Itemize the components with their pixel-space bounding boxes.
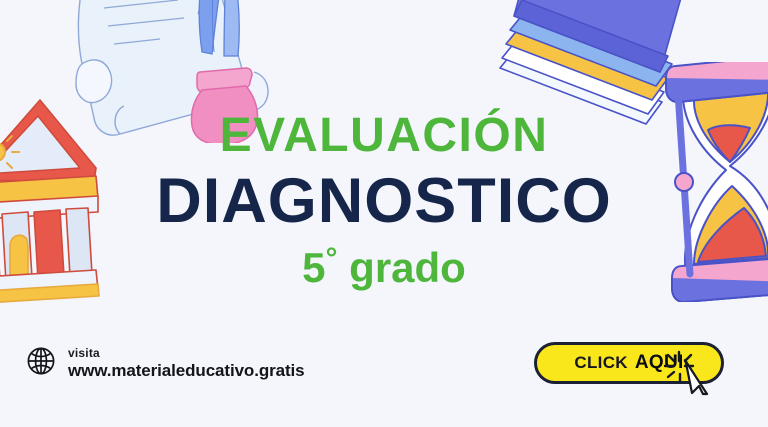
- cta-click-label: CLICK: [574, 353, 627, 373]
- globe-icon: [26, 346, 56, 381]
- mouse-cursor-click-icon: [659, 346, 717, 403]
- headline-line-evaluacion: EVALUACIÓN: [0, 112, 768, 160]
- grade-number: 5: [302, 244, 325, 291]
- promo-banner: EVALUACIÓN DIAGNOSTICO 5° grado visita w…: [0, 0, 768, 427]
- headline-block: EVALUACIÓN DIAGNOSTICO 5° grado: [0, 112, 768, 289]
- headline-grade-line: 5° grado: [0, 244, 768, 289]
- click-aqui-button[interactable]: CLICK AQUI: [534, 342, 724, 384]
- website-url: www.materialeducativo.gratis: [68, 361, 305, 380]
- degree-symbol: °: [326, 242, 338, 275]
- website-info: visita www.materialeducativo.gratis: [26, 346, 305, 381]
- visit-label: visita: [68, 347, 305, 360]
- headline-line-diagnostico: DIAGNOSTICO: [0, 168, 768, 234]
- grade-word: grado: [349, 244, 466, 291]
